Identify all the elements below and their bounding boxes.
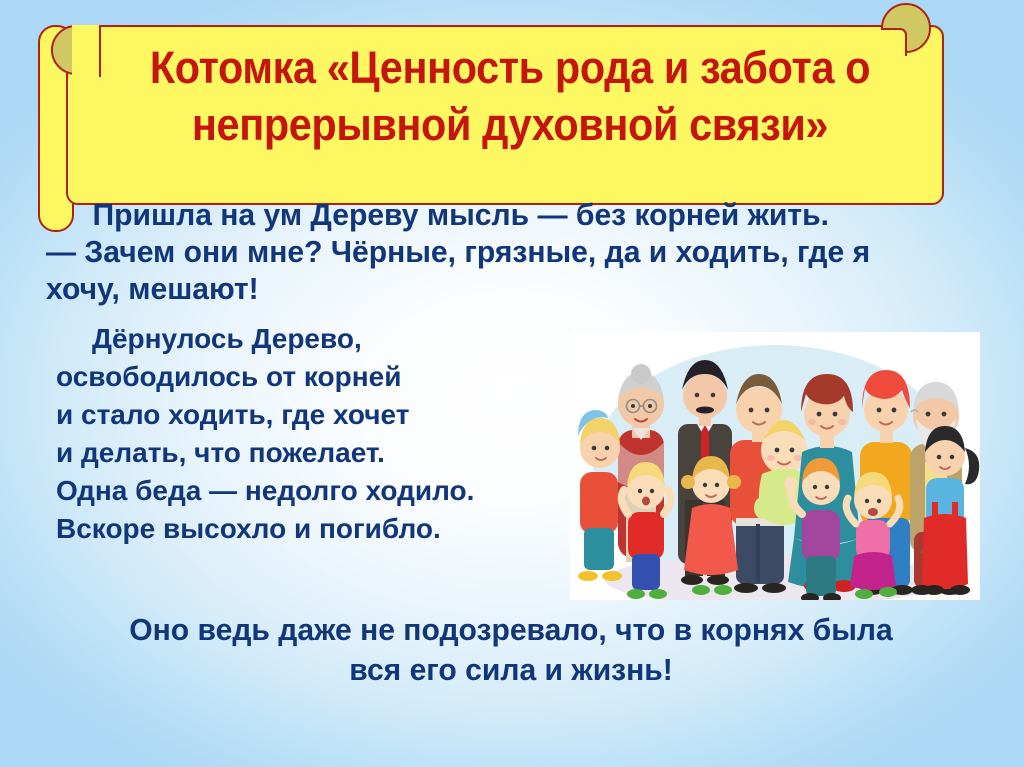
slide-title: Котомка «Ценность рода и забота о непрер… (120, 39, 900, 153)
paragraph-conclusion: Оно ведь даже не подозревало, что в корн… (60, 610, 962, 690)
family-illustration (570, 332, 980, 600)
title-scroll-banner: Котомка «Ценность рода и забота о непрер… (38, 17, 944, 217)
presentation-slide: Котомка «Ценность рода и забота о непрер… (0, 0, 1024, 767)
paragraph-opening: Пришла на ум Дереву мысль — без корней ж… (46, 196, 948, 307)
paragraph-story: Дёрнулось Дерево, освободилось от корней… (56, 320, 576, 548)
scroll-curl-left-overlay (72, 25, 101, 77)
